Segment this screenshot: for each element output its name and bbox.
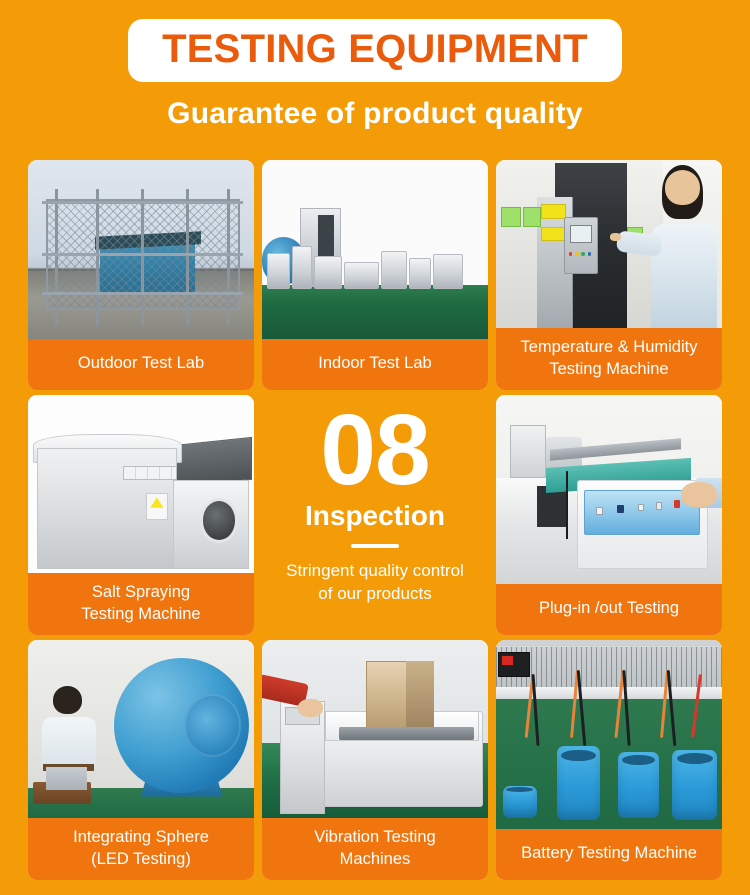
page-subtitle: Guarantee of product quality: [0, 98, 750, 130]
card-caption: Integrating Sphere (LED Testing): [28, 818, 254, 880]
card-caption-line2: Machines: [340, 850, 411, 868]
card-caption-line2: Testing Machine: [81, 605, 200, 623]
card-plug-in-out-testing[interactable]: Plug-in /out Testing: [496, 395, 722, 635]
card-caption-line1: Salt Spraying: [92, 583, 190, 601]
step-number: 08: [320, 401, 429, 499]
card-caption-line1: Temperature & Humidity: [521, 338, 698, 356]
card-caption-line2: (LED Testing): [91, 850, 191, 868]
equipment-grid: Outdoor Test Lab Indoor Test Lab: [28, 160, 722, 880]
card-indoor-test-lab[interactable]: Indoor Test Lab: [262, 160, 488, 390]
card-caption: Plug-in /out Testing: [496, 584, 722, 635]
step-label: Inspection: [305, 501, 445, 530]
feature-description-line2: of our products: [318, 584, 431, 603]
card-caption: Outdoor Test Lab: [28, 339, 254, 390]
card-caption: Indoor Test Lab: [262, 339, 488, 390]
page-header: TESTING EQUIPMENT Guarantee of product q…: [0, 0, 750, 129]
card-battery-testing[interactable]: Battery Testing Machine: [496, 640, 722, 880]
card-caption-line1: Integrating Sphere: [73, 828, 209, 846]
card-salt-spraying-machine[interactable]: Salt Spraying Testing Machine: [28, 395, 254, 635]
card-caption: Salt Spraying Testing Machine: [28, 573, 254, 635]
card-temperature-humidity-machine[interactable]: Temperature & Humidity Testing Machine: [496, 160, 722, 390]
card-integrating-sphere[interactable]: Integrating Sphere (LED Testing): [28, 640, 254, 880]
salt-spraying-machine-photo: [28, 395, 254, 573]
battery-testing-photo: [496, 640, 722, 829]
card-caption: Battery Testing Machine: [496, 829, 722, 880]
card-caption: Temperature & Humidity Testing Machine: [496, 328, 722, 390]
feature-divider: [351, 544, 399, 548]
temperature-humidity-machine-photo: [496, 160, 722, 328]
page-title: TESTING EQUIPMENT: [162, 29, 588, 70]
card-outdoor-test-lab[interactable]: Outdoor Test Lab: [28, 160, 254, 390]
integrating-sphere-photo: [28, 640, 254, 818]
feature-description-line1: Stringent quality control: [286, 561, 464, 580]
feature-description: Stringent quality control of our product…: [280, 560, 470, 606]
outdoor-test-lab-photo: [28, 160, 254, 339]
plug-in-out-testing-photo: [496, 395, 722, 584]
card-vibration-testing[interactable]: Vibration Testing Machines: [262, 640, 488, 880]
card-caption-line2: Testing Machine: [549, 360, 668, 378]
indoor-test-lab-photo: [262, 160, 488, 339]
card-caption: Vibration Testing Machines: [262, 818, 488, 880]
title-pill: TESTING EQUIPMENT: [128, 19, 622, 82]
card-caption-line1: Vibration Testing: [314, 828, 435, 846]
inspection-feature-block: 08 Inspection Stringent quality control …: [262, 395, 488, 635]
vibration-testing-photo: [262, 640, 488, 818]
